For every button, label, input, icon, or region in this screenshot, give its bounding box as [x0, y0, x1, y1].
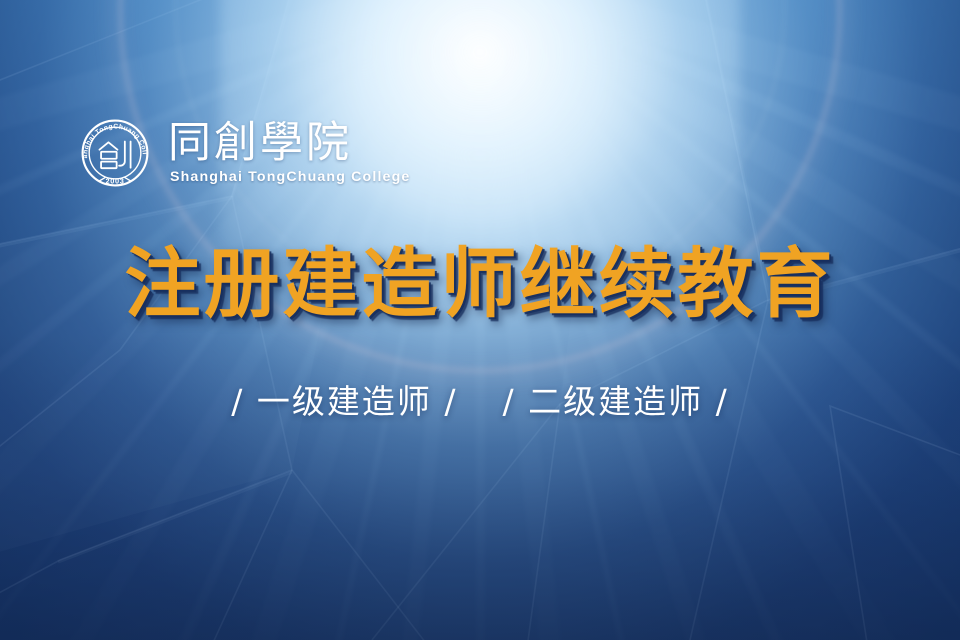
subtitle-segment-level-2: / 二级建造师 /: [503, 382, 729, 421]
poster-content: Shanghai TongChuang College 2003: [0, 0, 960, 640]
page-title: 注册建造师继续教育: [0, 246, 960, 322]
poster-canvas: Shanghai TongChuang College 2003: [0, 0, 960, 640]
subtitle-segment-level-1: / 一级建造师 /: [231, 382, 457, 421]
brand-wordmark: 同創學院 Shanghai TongChuang College: [168, 120, 410, 186]
seal-year: 2003: [105, 176, 124, 185]
brand-name-cn: 同創學院: [168, 121, 410, 166]
brand-logo-lockup[interactable]: Shanghai TongChuang College 2003: [74, 112, 410, 194]
subtitle-line: / 一级建造师 / / 二级建造师 /: [0, 381, 960, 423]
brand-name-en: Shanghai TongChuang College: [170, 169, 410, 186]
college-seal-icon: Shanghai TongChuang College 2003: [74, 112, 156, 194]
